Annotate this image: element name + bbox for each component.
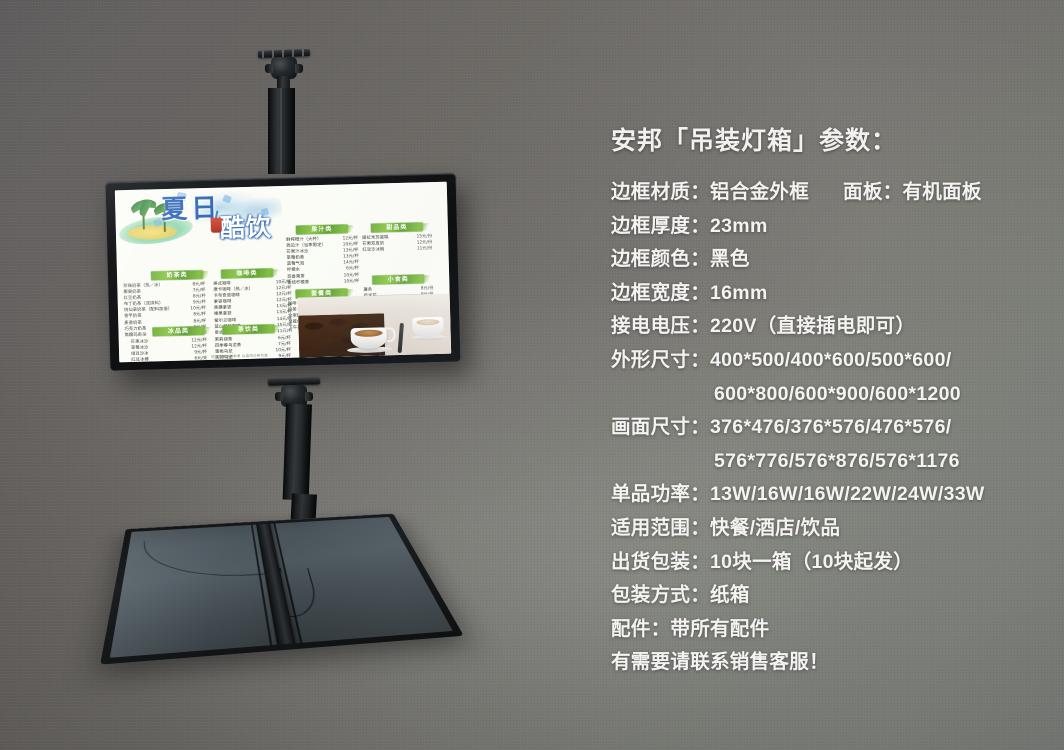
drink-cup-illustration-icon: [208, 214, 224, 234]
mount-post-upper: [268, 88, 295, 174]
menu-item-row: 红豆冰棒6元/支: [131, 356, 207, 362]
menu-item-price: 9元/杯: [273, 354, 291, 361]
coffee-cup-front-icon: [350, 326, 391, 353]
menu-poster: 夏 日 酷 饮 奶茶类珍珠奶茶（热／冰）8元/杯椰果奶茶7元/杯红豆奶茶8元/杯…: [115, 182, 451, 363]
rear-panel-back-surface: [110, 517, 453, 658]
spec-line: 576*776/576*876/576*1176: [611, 445, 1031, 479]
spec-value: 快餐/酒店/饮品: [710, 517, 840, 539]
spec-value: 376*476/376*576/476*576/: [710, 416, 951, 438]
spec-value: 23mm: [710, 215, 768, 237]
spec-line: 配件：带所有配件: [611, 613, 1031, 647]
spec-label: 面板：: [843, 181, 902, 203]
spec-value: 有需要请联系销售客服！: [611, 651, 829, 673]
spec-label: 单品功率：: [611, 483, 710, 505]
menu-item-name: 金桔柠檬茶: [287, 280, 309, 287]
lightbox-display-panel: 夏 日 酷 饮 奶茶类珍珠奶茶（热／冰）8元/杯椰果奶茶7元/杯红豆奶茶8元/杯…: [115, 182, 451, 363]
spec-line: 接电电压：220V（直接插电即可）: [611, 310, 1031, 344]
menu-section-header-label: 茶饮类: [222, 325, 274, 333]
spec-label: 外形尺寸：: [611, 349, 710, 371]
spec-line: 600*800/600*900/600*1200: [611, 378, 1031, 412]
spec-value: 纸箱: [710, 584, 750, 606]
menu-item-row: 红豆沙冰碗11元/份: [362, 246, 432, 254]
menu-section-header: 果汁类: [296, 224, 348, 234]
spec-line: 外形尺寸：400*500/400*600/500*600/: [611, 344, 1031, 378]
rear-lightbox-frame: [100, 514, 464, 665]
spec-value: 10块一箱（10块起发）: [710, 551, 913, 573]
spec-label: 边框材质：: [611, 181, 710, 203]
menu-item-list: 芒果冰沙12元/杯草莓冰沙12元/杯绿豆沙冰9元/杯红豆冰棒6元/支抹茶冰淇淋1…: [131, 338, 208, 362]
spec-value: 黑色: [710, 248, 750, 270]
menu-item-row: 桂花拿铁11元/杯: [215, 360, 291, 362]
spec-label: 包装方式：: [611, 584, 710, 606]
menu-item-name: 桂花拿铁: [215, 362, 233, 363]
menu-item-price: 10元/杯: [339, 279, 360, 286]
menu-item-name: 焦糖玛奇朵: [125, 332, 147, 339]
spec-line: 适用范围：快餐/酒店/饮品: [611, 512, 1031, 546]
menu-section-header-label: 奶茶类: [151, 271, 203, 279]
poster-title-char: 饮: [245, 214, 271, 240]
spec-value: 16mm: [710, 282, 768, 304]
spec-line: 边框厚度：23mm: [611, 210, 1031, 244]
menu-item-price: 6元/支: [189, 356, 207, 362]
poster-title-char: 夏: [161, 196, 188, 223]
screenshot-canvas: 夏 日 酷 饮 奶茶类珍珠奶茶（热／冰）8元/杯椰果奶茶7元/杯红豆奶茶8元/杯…: [0, 0, 1064, 750]
spoon-icon: [398, 323, 404, 353]
menu-section-header-label: 小食类: [372, 275, 424, 283]
spec-line: 单品功率：13W/16W/16W/22W/24W/33W: [611, 478, 1031, 512]
spec-line: 边框颜色：黑色: [611, 243, 1031, 277]
power-cable-icon: [266, 568, 321, 618]
spec-label: 边框厚度：: [611, 215, 710, 237]
menu-section-header-label: 冰品类: [152, 327, 204, 335]
spec-line: 有需要请联系销售客服！: [611, 646, 1031, 680]
spec-label: 接电电压：: [611, 315, 710, 337]
spec-label: 适用范围：: [611, 517, 710, 539]
rear-panel-wrapper: [118, 468, 428, 683]
spec-title: 安邦「吊装灯箱」参数：: [611, 126, 1031, 156]
spec-line: 画面尺寸：376*476/376*576/476*576/: [611, 411, 1031, 445]
spec-value: 220V（直接插电即可）: [710, 315, 915, 337]
menu-item-name: 红豆沙冰碗: [362, 248, 384, 255]
spec-value: 600*800/600*900/600*1200: [714, 383, 961, 405]
menu-item-name: 红豆冰棒: [131, 358, 149, 362]
menu-item-price: 11元/份: [412, 246, 433, 253]
mount-plate-holes: [268, 377, 320, 378]
spec-line: 包装方式：纸箱: [611, 579, 1031, 613]
menu-section-header-label: 果汁类: [296, 225, 348, 233]
rear-panel-glare-overlay: [110, 517, 453, 658]
spec-label: 画面尺寸：: [611, 416, 710, 438]
menu-item-row: 金桔柠檬茶10元/杯: [287, 279, 359, 287]
menu-section-header: 甜品类: [371, 222, 423, 232]
spec-value: 400*500/400*600/500*600/: [710, 349, 951, 371]
menu-section-header: 冰品类: [152, 326, 204, 336]
spec-line: 边框材质：铝合金外框面板：有机面板: [611, 176, 1031, 210]
coffee-cup-back-icon: [412, 316, 447, 341]
spec-label: 边框颜色：: [611, 248, 710, 270]
menu-item-price: 11元/杯: [271, 360, 292, 362]
menu-section-header-label: 咖啡类: [221, 269, 273, 277]
spec-label: 出货包装：: [611, 551, 710, 573]
spec-line: 边框宽度：16mm: [611, 277, 1031, 311]
spec-line: 出货包装：10块一箱（10块起发）: [611, 546, 1031, 580]
menu-section-header: 小食类: [372, 274, 424, 284]
menu-section-header: 咖啡类: [221, 268, 273, 278]
menu-section-header: 茶饮类: [222, 324, 274, 334]
spec-value: 13W/16W/16W/22W/24W/33W: [710, 483, 985, 505]
spec-value: 铝合金外框: [710, 181, 809, 203]
menu-sections-layer: 奶茶类珍珠奶茶（热／冰）8元/杯椰果奶茶7元/杯红豆奶茶8元/杯布丁奶茶（双拼料…: [115, 182, 447, 191]
spec-value: 576*776/576*876/576*1176: [714, 450, 960, 472]
front-lightbox-frame: 夏 日 酷 饮 奶茶类珍珠奶茶（热／冰）8元/杯椰果奶茶7元/杯红豆奶茶8元/杯…: [106, 173, 461, 370]
spec-value: 带所有配件: [670, 618, 769, 640]
spec-label: 边框宽度：: [611, 282, 710, 304]
spec-value: 有机面板: [902, 181, 981, 203]
coffee-photo: [298, 294, 452, 358]
menu-section-header-label: 甜品类: [371, 223, 423, 231]
spec-line-list: 边框材质：铝合金外框面板：有机面板边框厚度：23mm边框颜色：黑色边框宽度：16…: [611, 176, 1031, 680]
spec-text-block: 安邦「吊装灯箱」参数： 边框材质：铝合金外框面板：有机面板边框厚度：23mm边框…: [611, 126, 1031, 680]
menu-item-list: 提拉米苏蛋糕15元/份芒果双皮奶12元/份红豆沙冰碗11元/份: [362, 234, 432, 254]
menu-section-header: 奶茶类: [151, 270, 203, 280]
spec-label: 配件：: [611, 618, 670, 640]
menu-item-list: 鲜榨橙汁（大杯）12元/杯西瓜汁（当季限定）10元/杯芒果汁冰沙13元/杯草莓奶…: [286, 236, 359, 287]
